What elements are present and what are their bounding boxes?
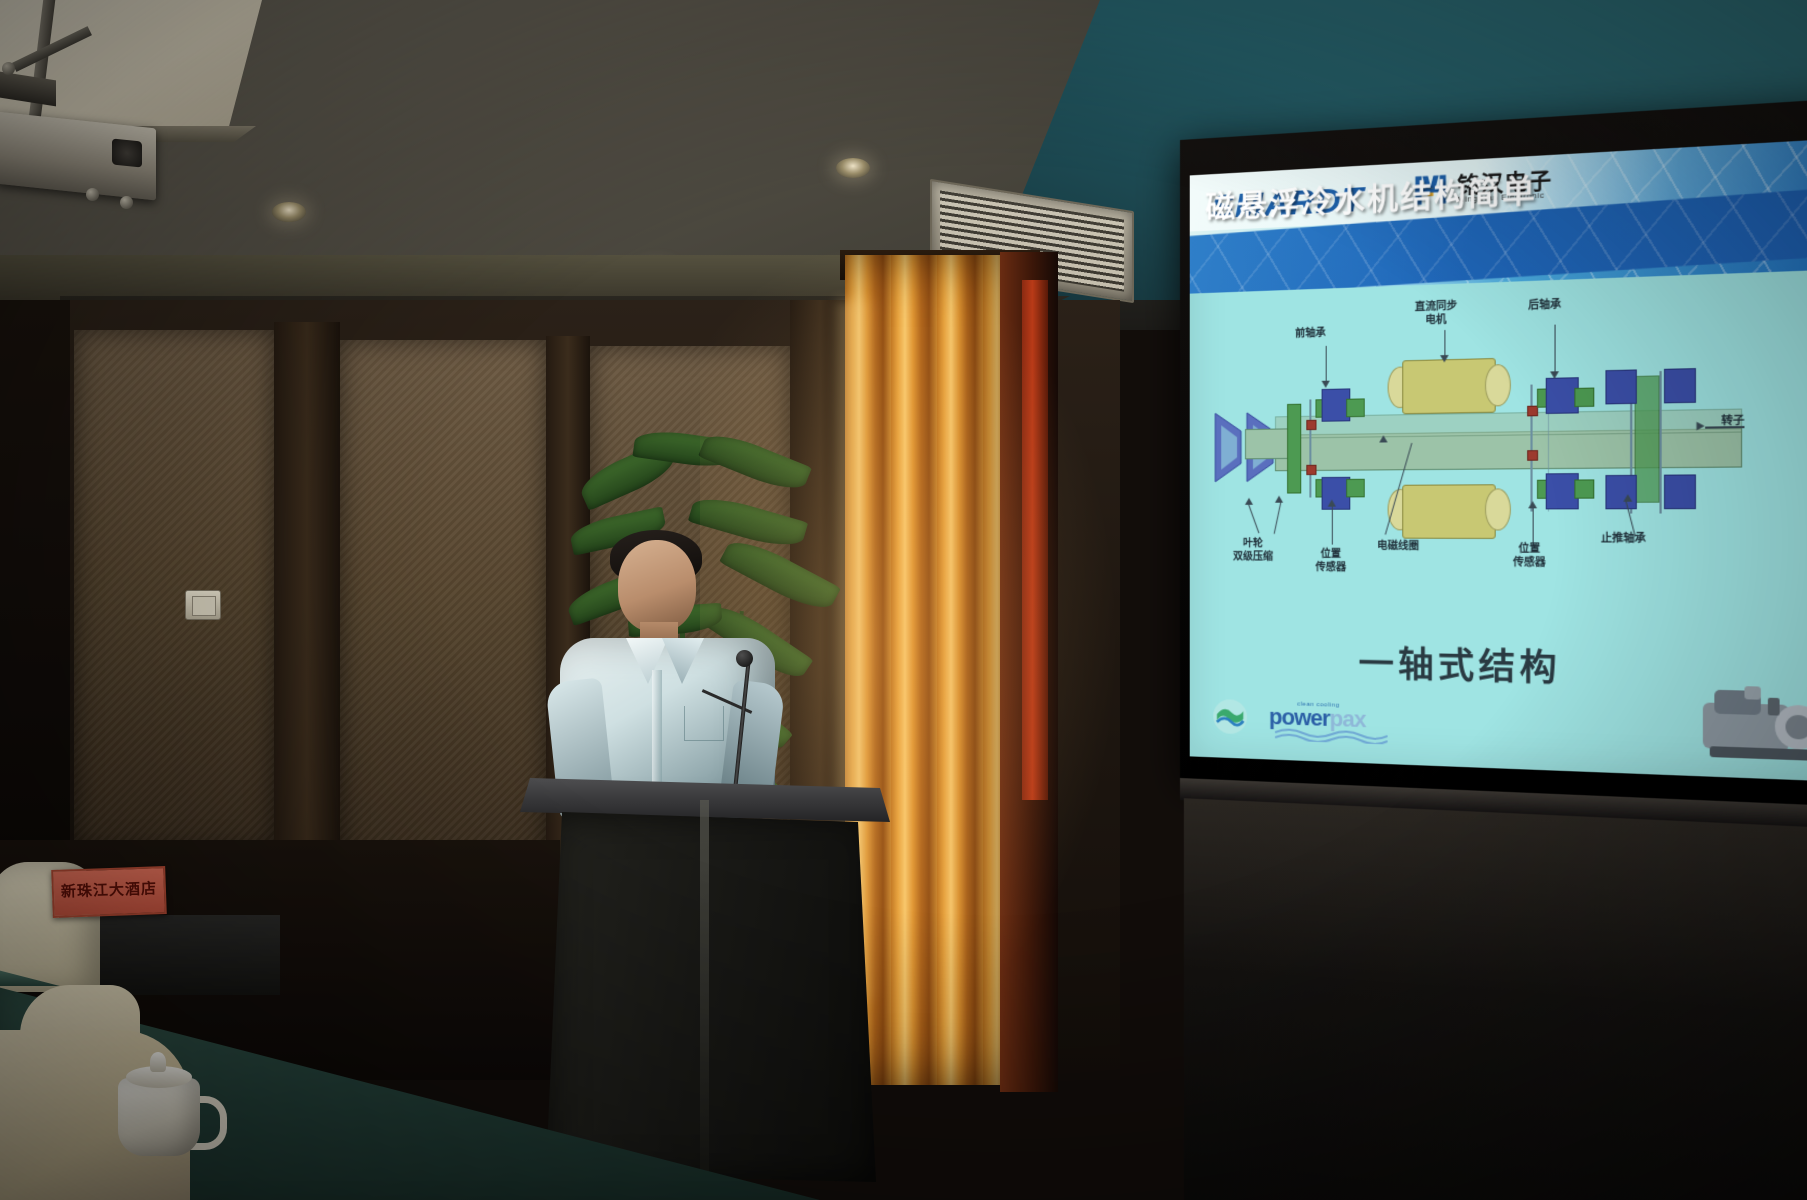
wall-power-socket[interactable]	[185, 590, 221, 620]
diagram-label: 位置传感器	[1315, 549, 1346, 575]
wall-panel	[340, 340, 546, 870]
slide-subtitle: 一轴式结构	[1359, 635, 1562, 691]
coil-green	[1574, 388, 1594, 408]
teapot[interactable]	[118, 1052, 216, 1162]
label-arrow	[1332, 506, 1333, 545]
tianhe-logo-icon	[1211, 697, 1249, 737]
sensor-chip	[1527, 450, 1538, 461]
powerpax-wordmark: powerpax	[1269, 707, 1388, 731]
shirt-pocket	[684, 706, 724, 741]
diagram-label: 直流同步电机	[1415, 300, 1457, 327]
downlight-icon	[836, 158, 870, 178]
rotor-arrow-head	[1697, 422, 1705, 431]
diagram-label: 叶轮双级压缩	[1233, 538, 1273, 564]
sensor-chip	[1306, 465, 1316, 475]
thrust-bearing	[1664, 368, 1696, 403]
label-arrow	[1274, 502, 1282, 534]
label-arrow	[1326, 346, 1327, 383]
label-arrow-head	[1245, 498, 1253, 505]
teapot-knob	[150, 1052, 166, 1072]
diagram-label: 转子	[1721, 415, 1744, 429]
diagram-label: 位置传感器	[1513, 543, 1546, 570]
diagram-label: 电磁线圈	[1377, 541, 1419, 554]
label-arrow-head	[1322, 381, 1330, 388]
label-arrow-head	[1550, 371, 1559, 379]
venue-placard-text: 新珠江大酒店	[53, 868, 164, 912]
label-arrow	[1533, 507, 1534, 545]
diagram-label: 前轴承	[1295, 327, 1326, 341]
motor-end-cap	[1485, 364, 1511, 407]
wall-below-screen	[1184, 798, 1807, 1200]
powerpax-logo: clean cooling powerpax	[1269, 701, 1388, 750]
label-arrow-head	[1623, 494, 1632, 502]
bearing-housing-line	[1309, 399, 1311, 497]
wall-dark-strip	[0, 300, 70, 860]
projection-screen-assembly: SMARDT 铭汉电子 Ming Han Electronic 磁悬浮冷水机结构…	[1180, 97, 1807, 943]
teapot-body	[118, 1078, 200, 1156]
dc-motor-body	[1402, 484, 1496, 539]
microphone-icon[interactable]	[736, 650, 753, 667]
thrust-bearing	[1664, 474, 1696, 509]
thrust-bearing	[1605, 475, 1636, 509]
speaker-person	[540, 530, 800, 810]
label-arrow-head	[1440, 355, 1448, 363]
projector-lens-icon	[112, 138, 142, 167]
sensor-chip	[1306, 420, 1316, 430]
label-arrow	[1444, 330, 1445, 357]
label-arrow	[1248, 503, 1260, 534]
label-arrow-head	[1528, 501, 1537, 508]
projector-mount-bolt	[86, 188, 99, 201]
powerpax-wave-icon	[1275, 728, 1388, 744]
speaker-head	[618, 540, 696, 632]
label-arrow-head	[1328, 499, 1336, 506]
venue-placard: 新珠江大酒店	[51, 866, 167, 918]
impeller-hub	[1245, 428, 1289, 459]
diagram-label: 止推轴承	[1601, 533, 1646, 547]
chiller-shaft-diagram: 前轴承 直流同步电机 后轴承 转子 叶轮双级压缩 位置传感器 电磁线圈 位置传感…	[1190, 269, 1807, 636]
motor-end-cap	[1485, 488, 1511, 530]
wall-stile	[274, 322, 340, 862]
projector-mount-bolt	[120, 196, 133, 209]
seal-plate	[1287, 404, 1301, 494]
chiller-machine-photo	[1698, 681, 1807, 778]
coil-green	[1346, 398, 1365, 417]
wall-panel	[74, 330, 274, 850]
podium-edge	[700, 800, 709, 1180]
diagram-label: 后轴承	[1528, 299, 1561, 313]
podium-body	[546, 812, 876, 1182]
label-arrow-head	[1379, 435, 1387, 442]
label-arrow	[1555, 325, 1556, 374]
thrust-housing-line	[1659, 371, 1661, 513]
projector-mount-bolt	[2, 62, 15, 75]
projected-slide: SMARDT 铭汉电子 Ming Han Electronic 磁悬浮冷水机结构…	[1190, 138, 1807, 782]
label-arrow-head	[1275, 496, 1283, 503]
side-bench	[80, 915, 280, 995]
thrust-disc	[1635, 375, 1660, 502]
coil-green	[1574, 479, 1594, 498]
thrust-bearing	[1605, 369, 1636, 404]
red-curtain-accent	[1022, 280, 1048, 800]
dc-motor-body	[1402, 358, 1496, 414]
bearing-housing-line	[1530, 385, 1532, 512]
plant-leaf	[698, 427, 812, 498]
photo-scene: SMARDT 铭汉电子 Ming Han Electronic 磁悬浮冷水机结构…	[0, 0, 1807, 1200]
downlight-icon	[272, 202, 306, 222]
coil-green	[1346, 479, 1365, 498]
